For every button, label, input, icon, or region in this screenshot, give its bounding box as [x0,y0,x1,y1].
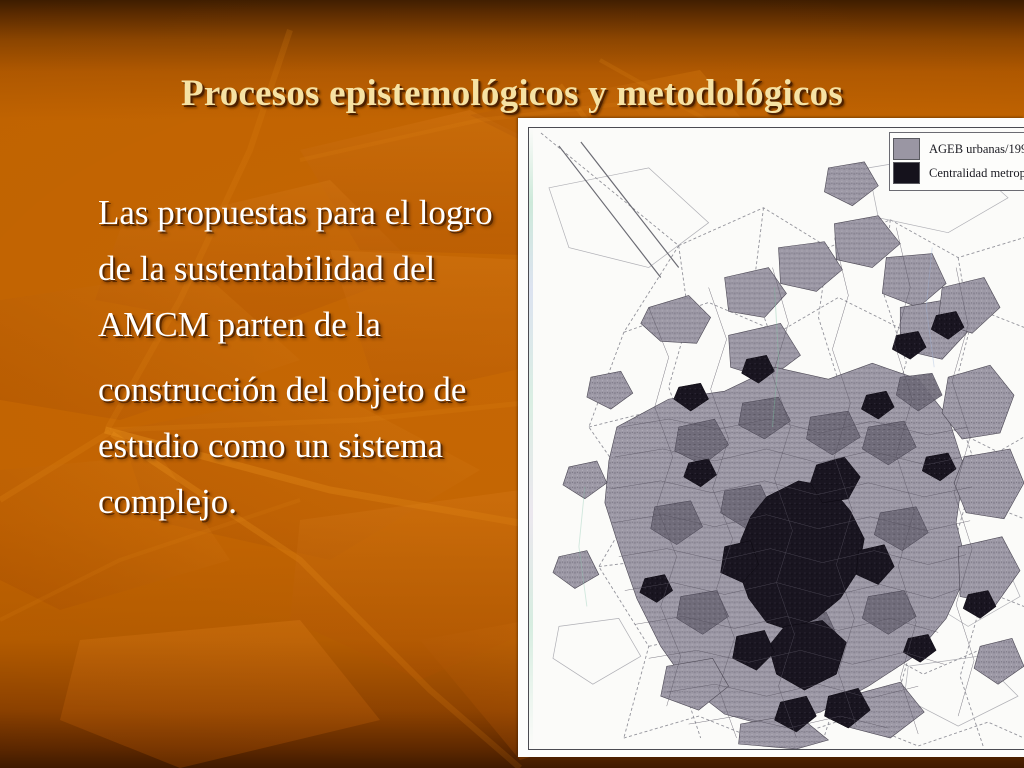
legend-swatch-urban-icon [893,138,920,160]
legend-item-centralidad: Centralidad metropolita [890,161,1024,185]
map-figure: AGEB urbanas/1995 Centralidad metropolit… [518,118,1024,757]
legend-label-centralidad: Centralidad metropolita [929,166,1024,181]
slide-title: Procesos epistemológicos y metodológicos [0,72,1024,115]
map-frame: AGEB urbanas/1995 Centralidad metropolit… [528,127,1024,750]
slide-body-text: Las propuestas para el logro de la suste… [98,185,516,530]
body-paragraph-2: construcción del objeto de estudio como … [98,362,516,530]
legend-swatch-central-icon [893,162,920,184]
body-paragraph-1: Las propuestas para el logro de la suste… [98,185,516,353]
map-legend: AGEB urbanas/1995 Centralidad metropolit… [889,132,1024,191]
legend-label-ageb-urbanas: AGEB urbanas/1995 [929,142,1024,157]
amcm-urban-agebs-map [529,128,1024,749]
legend-item-ageb-urbanas: AGEB urbanas/1995 [890,137,1024,161]
presentation-slide: Procesos epistemológicos y metodológicos… [0,0,1024,768]
